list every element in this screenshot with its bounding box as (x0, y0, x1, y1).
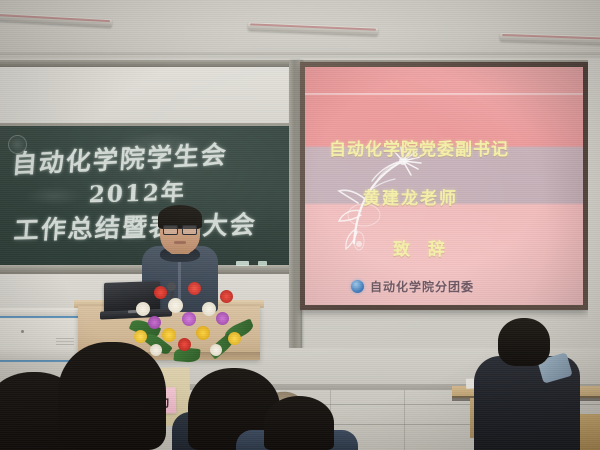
wall-right-of-screen (588, 58, 600, 358)
blackboard-chalk-text: 自动化学院学生会 2012年 工作总结暨表彰大会 (0, 126, 290, 267)
projection-screen: 自动化学院党委副书记 黄建龙老师 致 辞 自动化学院分团委 (305, 67, 583, 305)
audience-head (58, 342, 166, 450)
lecture-hall-photo: 自动化学院学生会 2012年 工作总结暨表彰大会 (0, 0, 600, 450)
floor-tile-joint (404, 390, 405, 450)
student-head (498, 318, 550, 366)
chalk-stick (236, 261, 249, 266)
audience-head (264, 396, 334, 450)
chalk-stick (258, 261, 267, 266)
blackboard-line-2: 2012年 (88, 173, 187, 210)
cabinet-knob (21, 330, 24, 333)
projection-screen-frame: 自动化学院党委副书记 黄建龙老师 致 辞 自动化学院分团委 (300, 62, 588, 310)
ceiling-seam (0, 52, 600, 55)
eyeglasses-icon (162, 225, 198, 233)
slide-action: 致 辞 (393, 235, 451, 260)
screen-hairline (305, 93, 583, 95)
speaker-mouth (174, 241, 186, 244)
slide-speaker-name: 黄建龙老师 (363, 184, 458, 209)
blackboard-line-3: 工作总结暨表彰大会 (13, 205, 259, 247)
cabinet-vent (56, 338, 74, 347)
flower-bouquet (128, 282, 254, 362)
slide-footer-text: 自动化学院分团委 (370, 278, 474, 295)
blue-circle-logo (351, 280, 364, 293)
blackboard-upper-panel (0, 67, 290, 125)
blackboard: 自动化学院学生会 2012年 工作总结暨表彰大会 (0, 126, 290, 267)
slide-footer: 自动化学院分团委 (351, 278, 474, 295)
slide-title: 自动化学院党委副书记 (329, 135, 509, 160)
